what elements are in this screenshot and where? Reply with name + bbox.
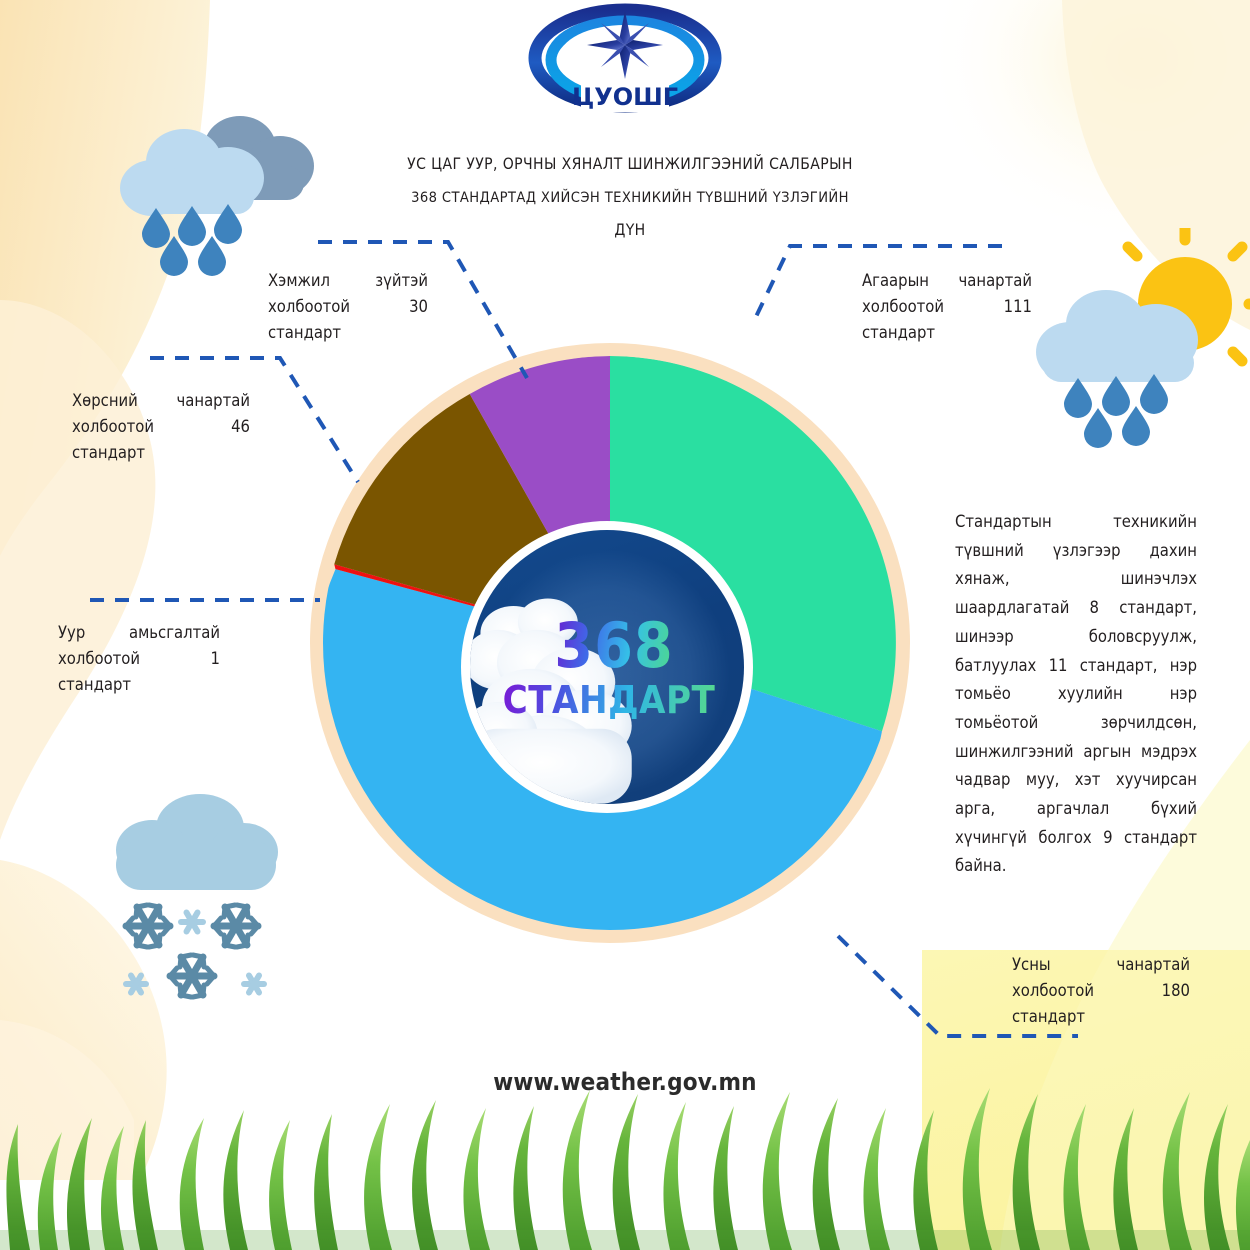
callout-soil-line-2: холбоотой 46 <box>72 414 250 440</box>
sun-behind-rain-cloud-icon <box>1028 228 1250 452</box>
callout-water-line-1: Усны чанартай <box>1012 952 1190 978</box>
cloud-icon <box>116 794 278 890</box>
summary-paragraph: Стандартын техникийн түвшний үзлэгээр да… <box>955 508 1197 881</box>
callout-water-line-3: стандарт <box>1012 1004 1190 1030</box>
callout-soil-line-3: стандарт <box>72 440 250 466</box>
callout-air-line-1: Агаарын чанартай <box>862 268 1032 294</box>
callout-metrology-line-3: стандарт <box>268 320 428 346</box>
callout-air: Агаарын чанартай холбоотой 111 стандарт <box>862 268 1032 346</box>
snow-cloud-icon <box>108 788 308 1012</box>
callout-soil: Хөрсний чанартай холбоотой 46 стандарт <box>72 388 250 466</box>
callout-metrology-line-1: Хэмжил зүйтэй <box>268 268 428 294</box>
callout-metrology-line-2: холбоотой 30 <box>268 294 428 320</box>
rain-cloud-icon <box>112 96 336 276</box>
callout-air-line-3: стандарт <box>862 320 1032 346</box>
callout-water: Усны чанартай холбоотой 180 стандарт <box>1012 952 1190 1030</box>
callout-climate-line-2: холбоотой 1 <box>58 646 220 672</box>
raindrops-icon <box>142 204 242 276</box>
grass-icon <box>0 1080 1250 1250</box>
callout-climate-line-1: Уур амьсгалтай <box>58 620 220 646</box>
callout-air-line-2: холбоотой 111 <box>862 294 1032 320</box>
snowflakes-icon <box>126 905 264 997</box>
callout-water-line-2: холбоотой 180 <box>1012 978 1190 1004</box>
callout-climate-line-3: стандарт <box>58 672 220 698</box>
callout-soil-line-1: Хөрсний чанартай <box>72 388 250 414</box>
callout-climate: Уур амьсгалтай холбоотой 1 стандарт <box>58 620 220 698</box>
infographic-canvas: ЦУОШГ УС ЦАГ УУР, ОРЧНЫ ХЯНАЛТ ШИНЖИЛГЭЭ… <box>0 0 1250 1250</box>
callout-metrology: Хэмжил зүйтэй холбоотой 30 стандарт <box>268 268 428 346</box>
raindrops-icon <box>1064 374 1168 448</box>
